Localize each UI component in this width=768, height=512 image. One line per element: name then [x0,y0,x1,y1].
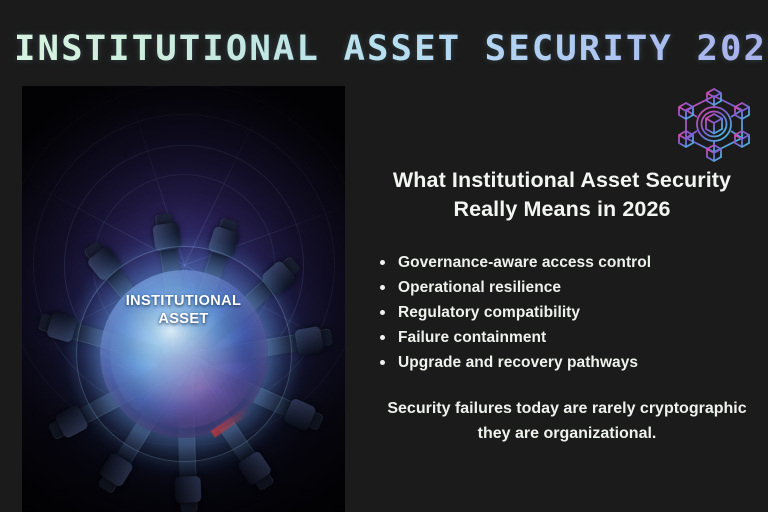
closing-line-2: they are organizational. [366,421,768,446]
list-item: Upgrade and recovery pathways [380,350,768,375]
slide-canvas: INSTITUTIONAL ASSET SECURITY 2026 [0,0,768,512]
list-item: Regulatory compatibility [380,300,768,325]
list-item-label: Upgrade and recovery pathways [398,354,638,371]
list-item: Governance-aware access control [380,250,768,275]
hero-caption-line-2: ASSET [158,311,208,327]
list-item-label: Governance-aware access control [398,254,651,271]
list-item: Operational resilience [380,275,768,300]
list-item: Failure containment [380,325,768,350]
hero-caption-line-1: INSTITUTIONAL [126,293,242,309]
bullet-dot-icon [380,310,385,315]
page-title: INSTITUTIONAL ASSET SECURITY 2026 [14,26,768,72]
section-heading: What Institutional Asset Security Really… [356,166,768,224]
list-item-label: Failure containment [398,329,546,346]
list-item-label: Operational resilience [398,279,561,296]
section-heading-line-1: What Institutional Asset Security [393,168,731,192]
hero-image-panel: INSTITUTIONAL ASSET [22,86,345,512]
bullet-dot-icon [380,360,385,365]
bullet-dot-icon [380,260,385,265]
section-heading-line-2: Really Means in 2026 [453,197,670,221]
title-bar: INSTITUTIONAL ASSET SECURITY 2026 [0,26,768,74]
content-column: What Institutional Asset Security Really… [356,166,768,446]
hexagonal-network-nodes-icon [668,86,760,162]
key-points-list: Governance-aware access control Operatio… [356,250,768,375]
closing-statement: Security failures today are rarely crypt… [356,396,768,446]
list-item-label: Regulatory compatibility [398,304,580,321]
brand-logo [668,86,760,162]
bullet-dot-icon [380,335,385,340]
closing-line-1: Security failures today are rarely crypt… [387,400,746,417]
hero-image-caption: INSTITUTIONAL ASSET [22,292,345,328]
bullet-dot-icon [380,285,385,290]
